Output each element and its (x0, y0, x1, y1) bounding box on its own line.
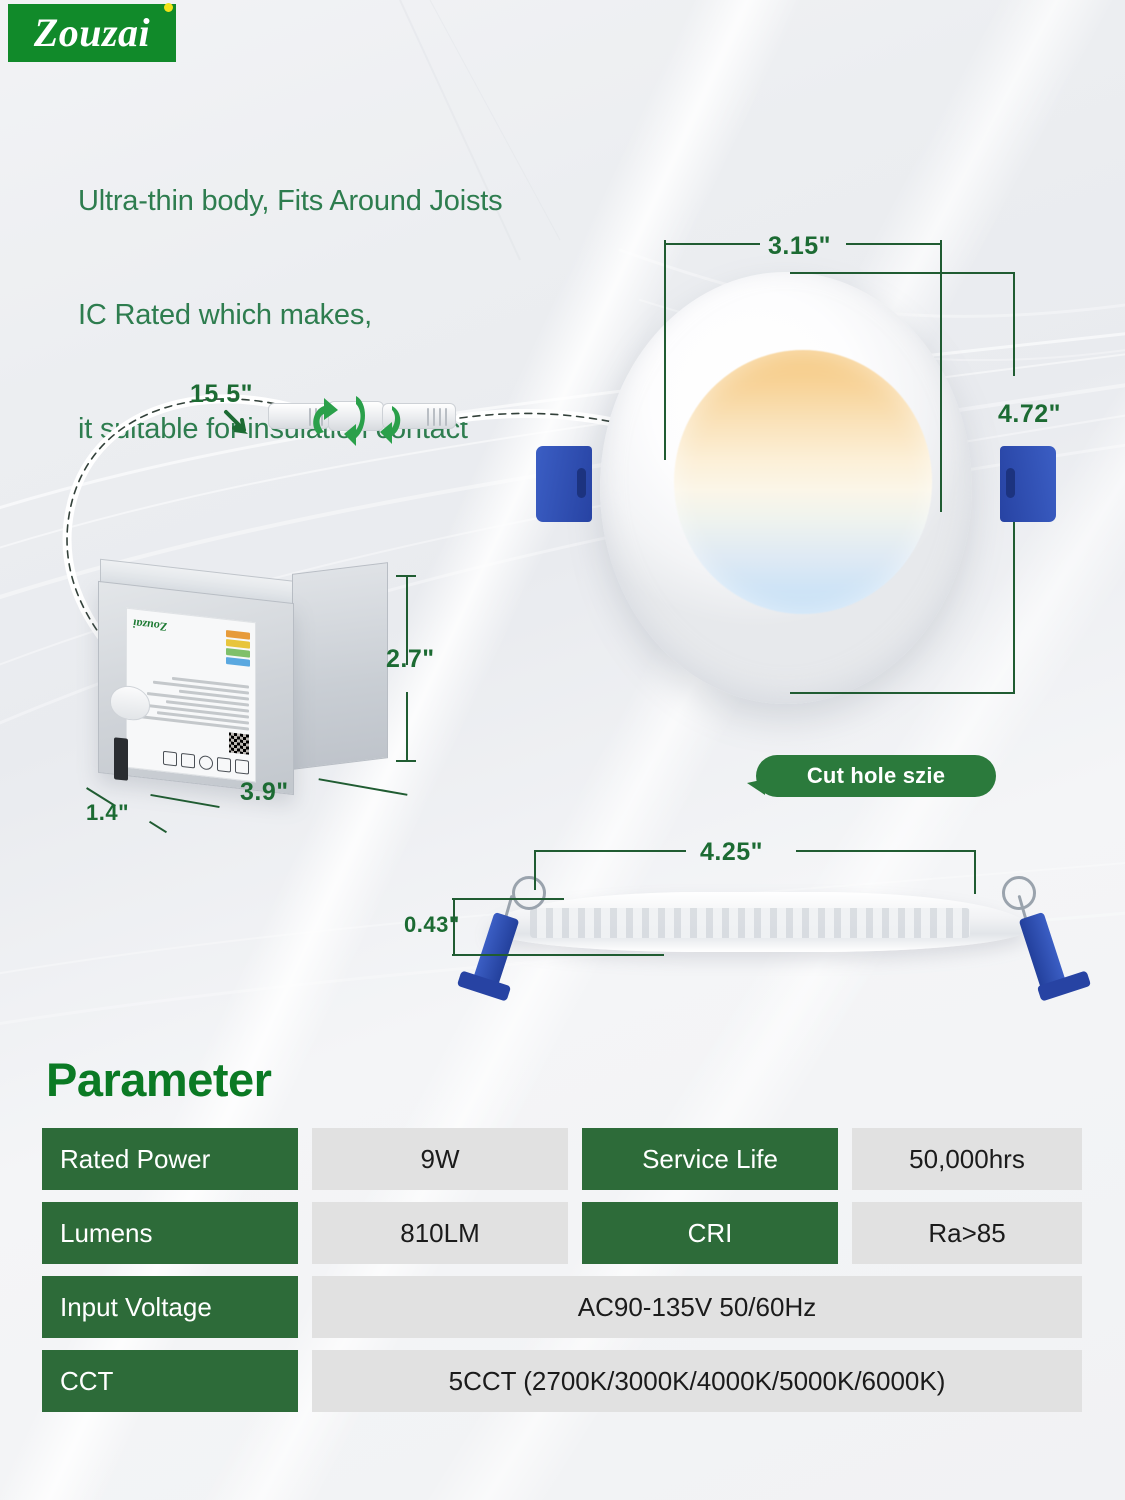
dim-label-driver-length: 3.9" (240, 778, 289, 807)
driver-cct-switch (114, 737, 128, 780)
param-value-lumens: 810LM (312, 1202, 568, 1264)
side-view-spring-coil-right (1002, 876, 1036, 910)
driver-qr-code (229, 732, 249, 754)
table-row: Lumens 810LM CRI Ra>85 (42, 1202, 1082, 1264)
dim-line-width-b (846, 243, 942, 245)
param-value-cri: Ra>85 (852, 1202, 1082, 1264)
param-label-service-life: Service Life (582, 1128, 838, 1190)
dim-line-width-left (664, 240, 666, 460)
dim-label-driver-depth: 1.4" (86, 800, 129, 826)
table-row: Input Voltage AC90-135V 50/60Hz (42, 1276, 1082, 1338)
param-label-input-voltage: Input Voltage (42, 1276, 298, 1338)
dim-line-side-width-2 (796, 850, 976, 852)
dim-line-width-right (940, 240, 942, 512)
param-value-cct: 5CCT (2700K/3000K/4000K/5000K/6000K) (312, 1350, 1082, 1412)
dim-line-height-b (1013, 522, 1015, 694)
dim-tick-side-width-left (534, 850, 536, 890)
dim-tick-side-width-right (974, 850, 976, 894)
dim-label-front-height: 4.72" (998, 400, 1061, 429)
driver-side-face (292, 562, 388, 770)
dim-label-side-width: 4.25" (700, 838, 763, 867)
downlight-side-view (430, 860, 1090, 1000)
dim-line-side-width (534, 850, 686, 852)
dim-line-height-top (790, 272, 1015, 274)
downlight-front-view (600, 272, 972, 704)
param-label-cct: CCT (42, 1350, 298, 1412)
dim-line-height-bot (790, 692, 1015, 694)
param-label-rated-power: Rated Power (42, 1128, 298, 1190)
parameter-section-title: Parameter (46, 1052, 271, 1107)
mounting-clip-right (1000, 446, 1056, 522)
wire-length-arrow-icon (222, 408, 258, 442)
driver-cct-swatches (226, 628, 250, 667)
dim-label-side-height: 0.43" (404, 912, 460, 938)
dim-label-front-width: 3.15" (768, 232, 831, 261)
dim-line-driver-depth-2 (149, 821, 167, 833)
dim-label-driver-height: 2.7" (386, 645, 435, 674)
dim-line-driver-length (150, 794, 219, 808)
dim-line-width-a (664, 243, 760, 245)
param-label-lumens: Lumens (42, 1202, 298, 1264)
dim-line-height-a (1013, 272, 1015, 376)
param-value-rated-power: 9W (312, 1128, 568, 1190)
dim-line-side-height-top (452, 898, 564, 900)
dim-line-driver-height-2 (406, 692, 408, 762)
driver-label-brand: Zouzai (133, 615, 167, 634)
dim-tick-driver-h-bot (396, 760, 416, 762)
rotate-arrows-icon (300, 388, 430, 450)
dim-tick-driver-h-top (396, 575, 416, 577)
param-value-service-life: 50,000hrs (852, 1128, 1082, 1190)
table-row: Rated Power 9W Service Life 50,000hrs (42, 1128, 1082, 1190)
mounting-clip-left (536, 446, 592, 522)
param-label-cri: CRI (582, 1202, 838, 1264)
param-value-input-voltage: AC90-135V 50/60Hz (312, 1276, 1082, 1338)
dim-line-side-height-bot (452, 954, 664, 956)
table-row: CCT 5CCT (2700K/3000K/4000K/5000K/6000K) (42, 1350, 1082, 1412)
parameter-table: Rated Power 9W Service Life 50,000hrs Lu… (42, 1128, 1082, 1424)
cut-hole-callout-text: Cut hole szie (807, 763, 945, 789)
side-view-heatsink-fins (530, 908, 970, 938)
side-view-spring-coil-left (512, 876, 546, 910)
callout-tail-icon (747, 779, 765, 795)
dim-label-wire-length: 15.5" (190, 380, 253, 409)
downlight-diffuser (674, 350, 932, 614)
led-driver-box: Zouzai (86, 560, 392, 790)
cut-hole-callout: Cut hole szie (756, 755, 996, 797)
